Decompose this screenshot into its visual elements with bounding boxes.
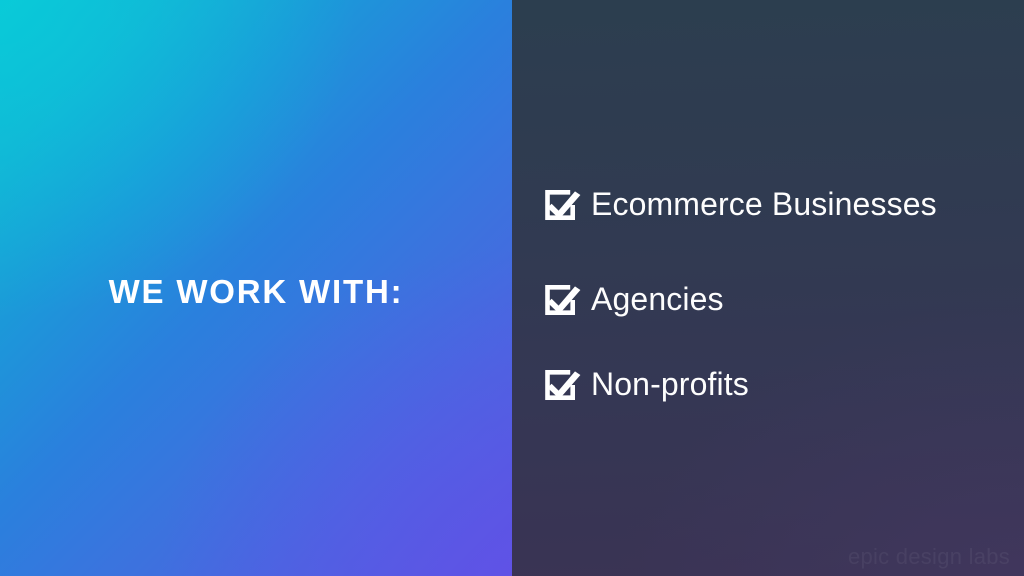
right-content-panel: Ecommerce Businesses Agencies	[512, 0, 1024, 576]
checkbox-checked-icon	[541, 278, 581, 318]
checkbox-checked-icon	[541, 183, 581, 223]
checklist: Ecommerce Businesses Agencies	[541, 156, 1024, 422]
checkbox-checked-icon	[541, 363, 581, 403]
slide-we-work-with: WE WORK WITH: Ecommerce Businesses	[0, 0, 1024, 576]
left-gradient-panel: WE WORK WITH:	[0, 0, 512, 576]
list-item-label: Non-profits	[591, 368, 749, 400]
list-item: Non-profits	[541, 346, 1024, 422]
list-item-label: Ecommerce Businesses	[591, 188, 937, 220]
watermark-logo: epic design labs	[848, 546, 1010, 568]
list-item: Ecommerce Businesses	[541, 156, 1024, 251]
page-title: WE WORK WITH:	[109, 275, 404, 308]
list-item: Agencies	[541, 251, 1024, 346]
list-item-label: Agencies	[591, 283, 724, 315]
